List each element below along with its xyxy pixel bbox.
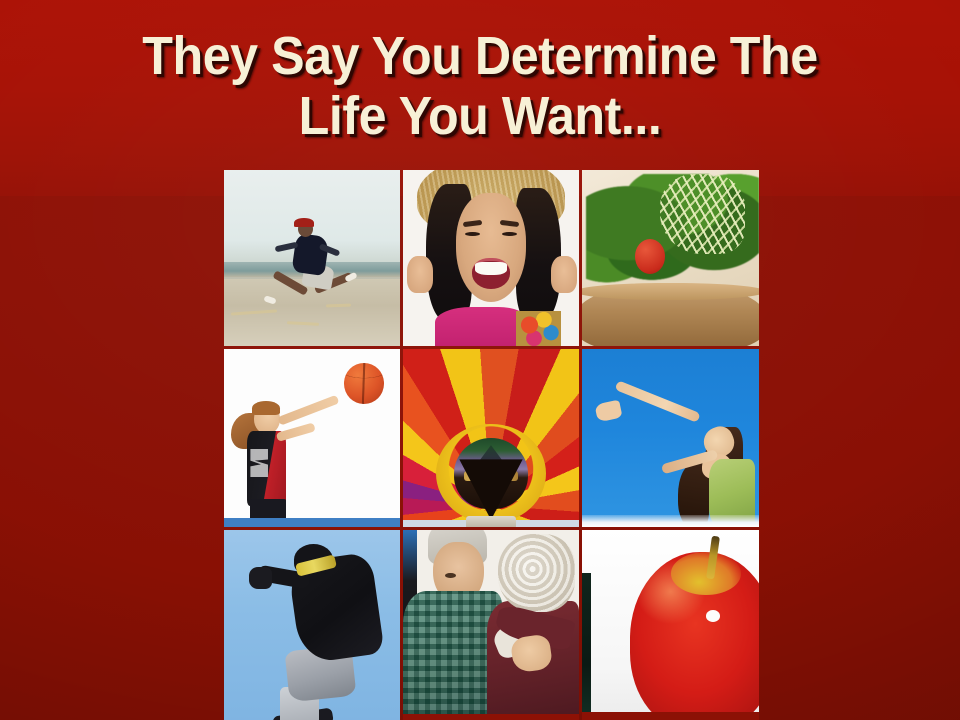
photo-woman-arms-outstretched-sky (582, 349, 759, 527)
open-hand (595, 400, 623, 423)
outstretched-arm (615, 380, 701, 422)
photo-green-salad-bowl (582, 170, 759, 346)
photo-runner-on-beach (224, 170, 400, 346)
basketball (344, 363, 384, 404)
woman-eye-left (465, 232, 481, 236)
wooden-bowl-rim (582, 283, 759, 301)
woman-eye-right (502, 232, 518, 236)
balloon-basket (466, 516, 515, 527)
slide-title: They Say You Determine The Life You Want… (34, 26, 927, 146)
floral-pattern (516, 311, 562, 346)
photo-smiling-woman-straw-hat (403, 170, 579, 346)
salad-sprouts (660, 174, 745, 255)
presentation-slide: They Say You Determine The Life You Want… (0, 0, 960, 720)
photo-girl-shooting-basketball (224, 349, 400, 527)
photo-elderly-couple-embracing (403, 530, 579, 720)
photo-grid (224, 170, 761, 720)
woman-hand-right (551, 256, 577, 293)
woman-hair-texture (498, 534, 575, 612)
snowboarder-glove (249, 567, 272, 589)
photo-snowboarder-midair (224, 530, 400, 720)
girl-shooting-arm (277, 394, 339, 425)
girl-support-arm (276, 422, 316, 441)
runner-red-cap (294, 218, 313, 228)
woman-pink-top (435, 307, 527, 346)
horizon-band (582, 515, 759, 527)
woman-hand-left (407, 256, 433, 293)
cherry-tomato (635, 239, 665, 274)
photo-hot-air-balloon (403, 349, 579, 527)
couple-bottom-band (403, 714, 579, 720)
girl-hair (252, 401, 280, 415)
runner-torso (292, 233, 331, 276)
apple-bottom-band (582, 712, 759, 720)
court-floor (224, 518, 400, 527)
man-eye (445, 573, 456, 578)
woman-teeth (475, 262, 507, 275)
apple-left-edge (582, 573, 591, 720)
photo-red-apple (582, 530, 759, 720)
